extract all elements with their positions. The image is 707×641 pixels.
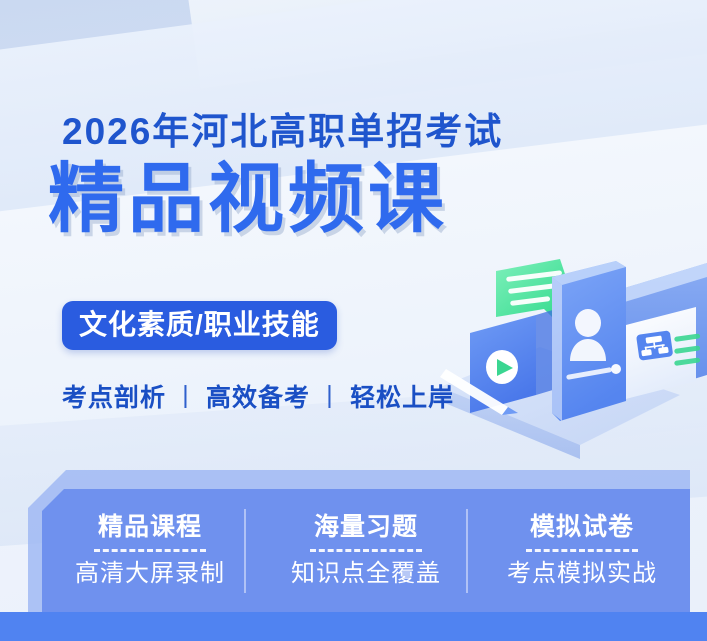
feature-title-1: 精品课程	[98, 515, 202, 540]
tagline-item-1: 考点剖析	[62, 384, 166, 412]
feature-item-1: 精品课程 高清大屏录制	[42, 489, 258, 612]
feature-divider-dash-2	[310, 549, 422, 552]
play-button-icon	[486, 350, 518, 384]
tagline: 考点剖析丨高效备考丨轻松上岸	[62, 378, 454, 414]
feature-title-3: 模拟试卷	[530, 515, 634, 540]
user-profile-card	[552, 261, 626, 421]
tagline-separator-2: 丨	[310, 384, 350, 412]
feature-subtitle-3: 考点模拟实战	[507, 562, 657, 586]
feature-subtitle-1: 高清大屏录制	[75, 562, 225, 586]
feature-item-3: 模拟试卷 考点模拟实战	[474, 489, 690, 612]
main-headline: 精品视频课	[48, 162, 448, 238]
feature-item-2: 海量习题 知识点全覆盖	[258, 489, 474, 612]
tagline-separator-1: 丨	[166, 384, 206, 412]
exam-title: 2026年河北高职单招考试	[62, 101, 503, 155]
subject-badge: 文化素质/职业技能	[62, 301, 337, 350]
tagline-item-2: 高效备考	[206, 384, 310, 412]
feature-bar: 精品课程 高清大屏录制 海量习题 知识点全覆盖 模拟试卷 考点模拟实战	[0, 462, 707, 641]
background-band-highlight	[180, 0, 707, 89]
feature-columns: 精品课程 高清大屏录制 海量习题 知识点全覆盖 模拟试卷 考点模拟实战	[42, 489, 690, 612]
feature-vertical-divider-2	[466, 509, 468, 593]
feature-vertical-divider-1	[244, 509, 246, 593]
promo-banner: 2026年河北高职单招考试 精品视频课 文化素质/职业技能 考点剖析丨高效备考丨…	[0, 0, 707, 641]
feature-subtitle-2: 知识点全覆盖	[291, 562, 441, 586]
feature-title-2: 海量习题	[314, 515, 418, 540]
isometric-illustration	[440, 255, 707, 470]
tagline-item-3: 轻松上岸	[350, 384, 454, 412]
feature-divider-dash-3	[526, 549, 638, 552]
feature-divider-dash-1	[94, 549, 206, 552]
feature-bar-footer	[0, 612, 707, 641]
